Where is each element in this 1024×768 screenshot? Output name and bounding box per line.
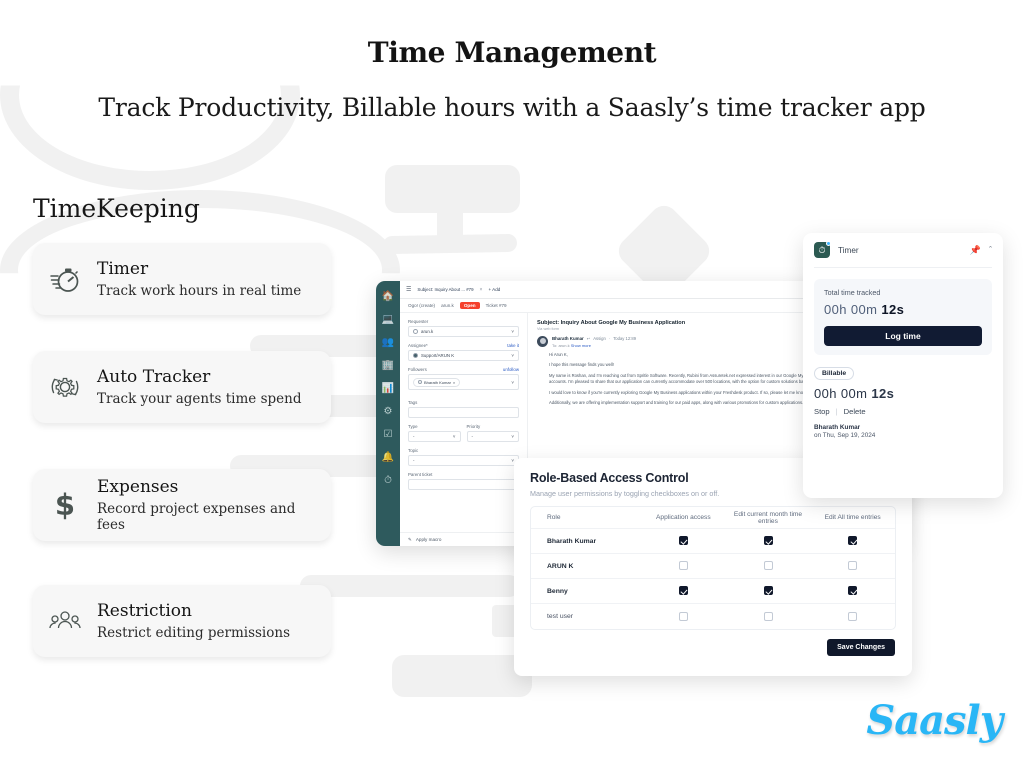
reply-icon: ↩ [587, 336, 591, 341]
sidebar-notifications-icon[interactable]: 🔔 [376, 446, 400, 469]
feature-desc: Track work hours in real time [97, 283, 321, 299]
tags-field[interactable]: Tags [408, 400, 519, 418]
assignee-field[interactable]: Assignee* take it Support/ARUN K ˅ [408, 343, 519, 361]
sidebar-timer-icon[interactable]: ⏱ [376, 469, 400, 492]
rbac-table: Role Application access Edit current mon… [530, 506, 896, 630]
avatar [413, 353, 418, 358]
page-title: Time Management [0, 36, 1024, 69]
entry-hours: 00h [814, 386, 837, 401]
timer-widget: ⏱ Timer 📌 ˆ Total time tracked 00h 00m 1… [803, 233, 1003, 498]
stopwatch-icon: ⏱ [814, 242, 830, 258]
close-icon[interactable]: × [480, 287, 483, 293]
feature-card-restriction[interactable]: Restriction Restrict editing permissions [33, 585, 331, 657]
feature-desc: Track your agents time spend [97, 391, 321, 407]
apply-macro-button[interactable]: ✎ Apply macro [400, 532, 527, 546]
follower-chip[interactable]: Bharath Kumar × [413, 378, 460, 387]
feature-title: Expenses [97, 477, 321, 498]
sidebar-tickets-icon[interactable]: 💻 [376, 308, 400, 331]
unfollow-link[interactable]: unfollow [503, 367, 519, 372]
total-seconds: 12s [881, 302, 904, 317]
requester-label: Requester [408, 319, 428, 324]
bg-bar-shape [300, 575, 520, 597]
slide-canvas: Time Management Track Productivity, Bill… [0, 0, 1024, 768]
parent-ticket-field[interactable]: Parent ticket [408, 472, 519, 490]
page-subtitle: Track Productivity, Billable hours with … [0, 93, 1024, 122]
tab-ticket[interactable]: Subject: Inquiry About ... #79 [417, 287, 473, 292]
sidebar-contacts-icon[interactable]: 👥 [376, 331, 400, 354]
total-minutes: 00m [851, 302, 878, 317]
edit-current-month-checkbox[interactable] [764, 612, 773, 621]
assignee-value: Support/ARUN K [421, 353, 454, 358]
checkbox-cell [810, 557, 895, 575]
edit-current-month-checkbox[interactable] [764, 561, 773, 570]
feature-title: Restriction [97, 601, 321, 622]
delete-button[interactable]: Delete [844, 407, 866, 416]
chevron-down-icon[interactable]: ˅ [511, 434, 514, 439]
breadcrumb-group[interactable]: Ogo! (create) [408, 303, 435, 308]
edit-all-checkbox[interactable] [848, 561, 857, 570]
total-hours: 00h [824, 302, 847, 317]
application-access-checkbox[interactable] [679, 586, 688, 595]
app-logo-icon[interactable]: ▲ [376, 499, 378, 522]
role-name: test user [531, 613, 641, 620]
saasly-logo: Saasly [866, 697, 1002, 744]
table-row: Bharath Kumar [531, 529, 895, 554]
type-value: - [413, 434, 414, 439]
sidebar-home-icon[interactable]: 🏠 [376, 285, 400, 308]
email-from: Bharath Kumar [552, 336, 584, 341]
avatar [537, 336, 548, 347]
avatar [413, 329, 418, 334]
email-time: Today 12:89 [613, 336, 636, 341]
feature-title: Auto Tracker [97, 367, 321, 388]
checkbox-cell [810, 582, 895, 600]
show-more-link[interactable]: Show more [571, 343, 591, 348]
followers-field[interactable]: Followers unfollow Bharath Kumar × ˅ [408, 367, 519, 390]
chevron-up-icon[interactable]: ˆ [989, 245, 992, 255]
role-name: ARUN K [531, 563, 641, 570]
edit-all-checkbox[interactable] [848, 612, 857, 621]
table-row: test user [531, 604, 895, 629]
priority-field[interactable]: Priority -˅ [467, 424, 520, 442]
checkbox-cell [726, 608, 811, 626]
remove-icon[interactable]: × [453, 380, 455, 385]
chevron-down-icon[interactable]: ˅ [511, 353, 514, 358]
entry-user: Bharath Kumar [814, 424, 992, 431]
stopwatch-icon [33, 262, 97, 296]
sidebar-solutions-icon[interactable]: 🏢 [376, 354, 400, 377]
users-group-icon [33, 608, 97, 634]
followers-label: Followers [408, 367, 427, 372]
gear-refresh-icon [33, 370, 97, 404]
application-access-checkbox[interactable] [679, 536, 688, 545]
log-time-button[interactable]: Log time [824, 326, 982, 346]
divider: | [836, 407, 838, 416]
section-heading: TimeKeeping [33, 194, 200, 223]
parent-ticket-label: Parent ticket [408, 472, 432, 477]
chevron-down-icon[interactable]: ˅ [511, 329, 514, 334]
assignee-label: Assignee* [408, 343, 428, 348]
assign-link[interactable]: Assign [593, 336, 606, 341]
tab-icon: ☰ [406, 286, 411, 293]
sidebar-admin-icon[interactable]: ⚙ [376, 400, 400, 423]
priority-label: Priority [467, 424, 481, 429]
topic-label: Topic [408, 448, 418, 453]
column-header-application-access: Application access [641, 514, 726, 521]
requester-field[interactable]: Requester arun.k ˅ [408, 319, 519, 337]
billable-badge: Billable [814, 367, 854, 380]
checkbox-cell [726, 582, 811, 600]
checkbox-cell [641, 557, 726, 575]
requester-value: arun.k [421, 329, 433, 334]
entry-seconds: 12s [871, 386, 894, 401]
breadcrumb-user[interactable]: arun.k [441, 303, 454, 308]
macro-icon: ✎ [408, 537, 412, 543]
total-time-value: 00h 00m 12s [824, 302, 982, 317]
checkbox-cell [641, 608, 726, 626]
checkbox-cell [810, 608, 895, 626]
entry-date: on Thu, Sep 19, 2024 [814, 432, 992, 439]
column-header-role: Role [531, 514, 641, 521]
application-access-checkbox[interactable] [679, 561, 688, 570]
edit-all-checkbox[interactable] [848, 536, 857, 545]
bg-monitor-base-shape [383, 234, 517, 254]
topic-value: - [413, 458, 414, 463]
feature-card-timer[interactable]: Timer Track work hours in real time [33, 243, 331, 315]
table-row: Benny [531, 579, 895, 604]
checkbox-cell [810, 532, 895, 550]
total-time-panel: Total time tracked 00h 00m 12s Log time [814, 279, 992, 355]
app-sidebar-rail: ▲ 🏠 💻 👥 🏢 📊 ⚙ ☑ 🔔 ⏱ [376, 281, 400, 546]
breadcrumb-ticket: Ticket #79 [486, 303, 507, 308]
column-header-edit-all: Edit All time entries [810, 514, 895, 521]
type-label: Type [408, 424, 418, 429]
chevron-down-icon[interactable]: ˅ [511, 380, 514, 385]
sidebar-reports-icon[interactable]: 📊 [376, 377, 400, 400]
entry-time-value: 00h 00m 12s [814, 386, 992, 401]
ticket-properties-panel: Requester arun.k ˅ Assignee* take it [400, 313, 528, 546]
topic-field[interactable]: Topic -˅ [408, 448, 519, 466]
timer-widget-header: ⏱ Timer 📌 ˆ [814, 242, 992, 268]
bg-monitor-shape [385, 165, 520, 213]
feature-card-expenses[interactable]: $ Expenses Record project expenses and f… [33, 469, 331, 541]
pin-icon[interactable]: 📌 [970, 245, 981, 256]
checkbox-cell [726, 532, 811, 550]
feature-desc: Record project expenses and fees [97, 501, 321, 533]
sidebar-tasks-icon[interactable]: ☑ [376, 423, 400, 446]
timer-widget-title: Timer [838, 246, 962, 255]
feature-title: Timer [97, 259, 321, 280]
column-header-edit-current-month: Edit current month time entries [726, 511, 811, 525]
role-name: Benny [531, 588, 641, 595]
feature-card-auto-tracker[interactable]: Auto Tracker Track your agents time spen… [33, 351, 331, 423]
checkbox-cell [641, 582, 726, 600]
edit-current-month-checkbox[interactable] [764, 536, 773, 545]
table-row: ARUN K [531, 554, 895, 579]
edit-all-checkbox[interactable] [848, 586, 857, 595]
total-time-label: Total time tracked [824, 288, 982, 297]
save-changes-button[interactable]: Save Changes [827, 639, 895, 656]
stop-button[interactable]: Stop [814, 407, 830, 416]
take-it-link[interactable]: take it [507, 343, 519, 348]
status-badge[interactable]: Open [460, 302, 480, 309]
entry-minutes: 00m [841, 386, 868, 401]
role-name: Bharath Kumar [531, 538, 641, 545]
avatar [418, 380, 422, 384]
checkbox-cell [641, 532, 726, 550]
chevron-down-icon[interactable]: ˅ [453, 434, 456, 439]
tags-label: Tags [408, 400, 417, 405]
application-access-checkbox[interactable] [679, 612, 688, 621]
add-tab-button[interactable]: + Add [488, 287, 500, 292]
dollar-icon: $ [33, 488, 97, 522]
email-to: To: arun.k [552, 343, 570, 348]
feature-desc: Restrict editing permissions [97, 625, 321, 641]
notification-dot [826, 241, 831, 246]
checkbox-cell [726, 557, 811, 575]
table-header-row: Role Application access Edit current mon… [531, 507, 895, 529]
svg-text:$: $ [55, 488, 75, 522]
priority-value: - [472, 434, 473, 439]
type-field[interactable]: Type -˅ [408, 424, 461, 442]
edit-current-month-checkbox[interactable] [764, 586, 773, 595]
entry-actions: Stop | Delete [814, 407, 992, 416]
bg-monitor-shape-lower [392, 655, 532, 697]
